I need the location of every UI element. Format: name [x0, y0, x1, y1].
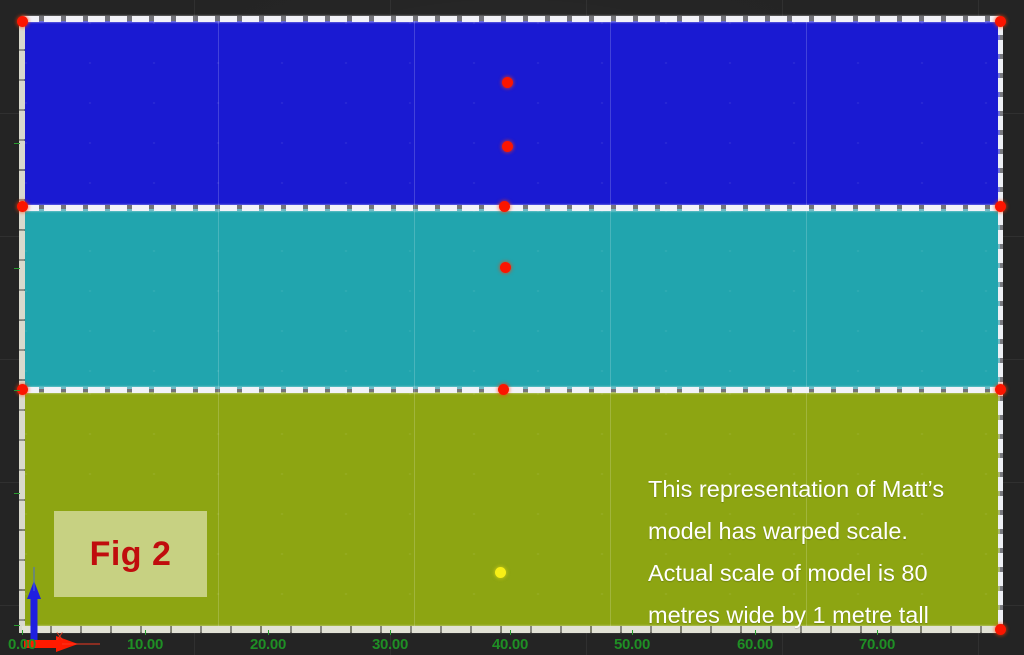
- node-corner-tr[interactable]: [995, 16, 1006, 27]
- x-tick-label-0: 0.00: [8, 636, 36, 653]
- figure-label-text: Fig 2: [90, 535, 172, 574]
- boundary-upper-middle: [22, 205, 1000, 211]
- node-red-3[interactable]: [499, 201, 510, 212]
- x-tick-label-7: 70.00: [859, 636, 895, 653]
- y-tick-mark-4: [14, 625, 20, 626]
- cad-viewport: X 0.0010.0020.0030.0040.0050.0060.0070.0…: [0, 0, 1024, 655]
- figure-label-box: Fig 2: [54, 511, 207, 597]
- y-tick-mark-3: [14, 493, 20, 494]
- x-tick-mark-1: [145, 630, 146, 635]
- node-corner-tl[interactable]: [17, 16, 28, 27]
- x-tick-label-1: 10.00: [127, 636, 163, 653]
- boundary-middle-lower: [22, 387, 1000, 393]
- x-tick-mark-5: [632, 630, 633, 635]
- x-tick-mark-2: [268, 630, 269, 635]
- y-tick-mark-1: [14, 268, 20, 269]
- node-red-5[interactable]: [498, 384, 509, 395]
- x-tick-label-2: 20.00: [250, 636, 286, 653]
- node-edge-l2[interactable]: [17, 384, 28, 395]
- x-tick-mark-4: [510, 630, 511, 635]
- layer-upper[interactable]: [22, 21, 1000, 205]
- boundary-right: [998, 21, 1003, 632]
- axis-ruler-left: [19, 21, 25, 633]
- y-tick-mark-0: [14, 143, 20, 144]
- node-red-4[interactable]: [500, 262, 511, 273]
- x-tick-mark-3: [390, 630, 391, 635]
- x-tick-label-6: 60.00: [737, 636, 773, 653]
- x-axis-label: X: [56, 631, 64, 643]
- node-edge-r1[interactable]: [995, 201, 1006, 212]
- annotation-line-4: metres wide by 1 metre tall: [648, 594, 998, 636]
- annotation-note: This representation of Matt’s model has …: [648, 468, 998, 636]
- boundary-top: [22, 16, 1000, 22]
- construction-line-3: [610, 21, 611, 632]
- node-red-1[interactable]: [502, 77, 513, 88]
- y-tick-mark-2: [14, 390, 20, 391]
- x-tick-label-5: 50.00: [614, 636, 650, 653]
- annotation-line-3: Actual scale of model is 80: [648, 552, 998, 594]
- node-edge-l1[interactable]: [17, 201, 28, 212]
- construction-line-2: [414, 21, 415, 632]
- layer-middle[interactable]: [22, 209, 1000, 389]
- layer-middle-mesh-dots: [22, 209, 1000, 389]
- z-axis-arrow: [27, 567, 41, 643]
- x-tick-label-4: 40.00: [492, 636, 528, 653]
- node-red-2[interactable]: [502, 141, 513, 152]
- construction-line-1: [218, 21, 219, 632]
- layer-upper-mesh-dots: [22, 21, 1000, 205]
- annotation-line-1: This representation of Matt’s: [648, 468, 998, 510]
- node-yellow[interactable]: [495, 567, 506, 578]
- node-edge-r2[interactable]: [995, 384, 1006, 395]
- x-tick-label-3: 30.00: [372, 636, 408, 653]
- annotation-line-2: model has warped scale.: [648, 510, 998, 552]
- x-tick-mark-0: [22, 630, 23, 635]
